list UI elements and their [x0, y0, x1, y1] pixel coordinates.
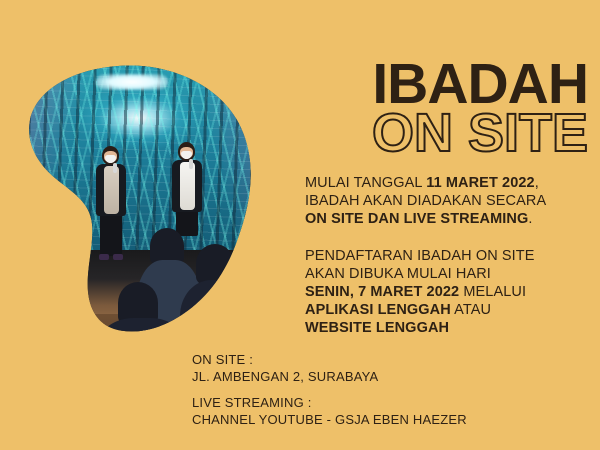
singer-left-head [102, 146, 119, 165]
contact-livestream-label: LIVE STREAMING : [192, 395, 522, 412]
singer-left-legs [100, 212, 122, 256]
stage-photo [0, 0, 260, 370]
singer-left-body [96, 164, 126, 216]
p2-l5-website: WEBSITE LENGGAH [305, 320, 449, 336]
singer-left-shoe-b [113, 254, 123, 260]
paragraph-2-line-1: PENDAFTARAN IBADAH ON SITE [305, 247, 590, 265]
singer-right-head [178, 142, 195, 161]
audience-head-2 [196, 244, 234, 284]
paragraph-2-line-2: AKAN DIBUKA MULAI HARI [305, 265, 590, 283]
led-light-beam [96, 74, 168, 90]
contact-livestream-value: CHANNEL YOUTUBE - GSJA EBEN HAEZER [192, 412, 522, 429]
paragraph-1-line-1: MULAI TANGGAL 11 MARET 2022, [305, 174, 585, 192]
p1-l1-regular: MULAI TANGGAL [305, 175, 426, 191]
contact-livestream: LIVE STREAMING : CHANNEL YOUTUBE - GSJA … [192, 395, 522, 428]
singer-right-face-mask [181, 151, 192, 159]
paragraph-1-line-3: ON SITE DAN LIVE STREAMING. [305, 210, 585, 228]
announcement-paragraph-1: MULAI TANGGAL 11 MARET 2022, IBADAH AKAN… [305, 174, 585, 228]
paragraph-1-line-2: IBADAH AKAN DIADAKAN SECARA [305, 192, 585, 210]
announcement-paragraph-2: PENDAFTARAN IBADAH ON SITE AKAN DIBUKA M… [305, 247, 590, 337]
singer-right-vest [180, 162, 195, 210]
contact-onsite-value: JL. AMBENGAN 2, SURABAYA [192, 369, 522, 386]
paragraph-2-line-3: SENIN, 7 MARET 2022 MELALUI [305, 283, 590, 301]
p1-l1-tail: , [535, 175, 539, 191]
p1-l3-bold: ON SITE DAN LIVE STREAMING [305, 211, 528, 227]
singer-left-face-mask [105, 155, 116, 163]
p2-l4-app: APLIKASI LENGGAH [305, 302, 451, 318]
p2-l3-date: SENIN, 7 MARET 2022 [305, 284, 459, 300]
audience-head-far-left [2, 168, 28, 198]
singer-left-shoe-a [99, 254, 109, 260]
contact-onsite-label: ON SITE : [192, 352, 522, 369]
p2-l3-regular: MELALUI [459, 284, 526, 300]
title-line-on-site: ON SITE [232, 108, 588, 159]
p2-l4-regular: ATAU [451, 302, 491, 318]
audience-body-3 [100, 318, 184, 370]
audience-head-1 [150, 228, 184, 264]
singer-left-vest [104, 166, 119, 214]
p1-l3-tail: . [528, 211, 532, 227]
title-block: IBADAH ON SITE [232, 58, 588, 160]
contact-block: ON SITE : JL. AMBENGAN 2, SURABAYA LIVE … [192, 352, 522, 428]
flyer-canvas: IBADAH ON SITE MULAI TANGGAL 11 MARET 20… [0, 0, 600, 450]
photo-background [0, 0, 260, 370]
audience-body-far-left [0, 196, 40, 266]
contact-onsite: ON SITE : JL. AMBENGAN 2, SURABAYA [192, 352, 522, 385]
singer-right-body [172, 160, 202, 212]
p1-l1-date: 11 MARET 2022 [426, 175, 535, 191]
paragraph-2-line-4: APLIKASI LENGGAH ATAU [305, 301, 590, 319]
singer-right-microphone [189, 159, 193, 169]
singer-left-microphone [113, 163, 117, 173]
paragraph-2-line-5: WEBSITE LENGGAH [305, 319, 590, 337]
